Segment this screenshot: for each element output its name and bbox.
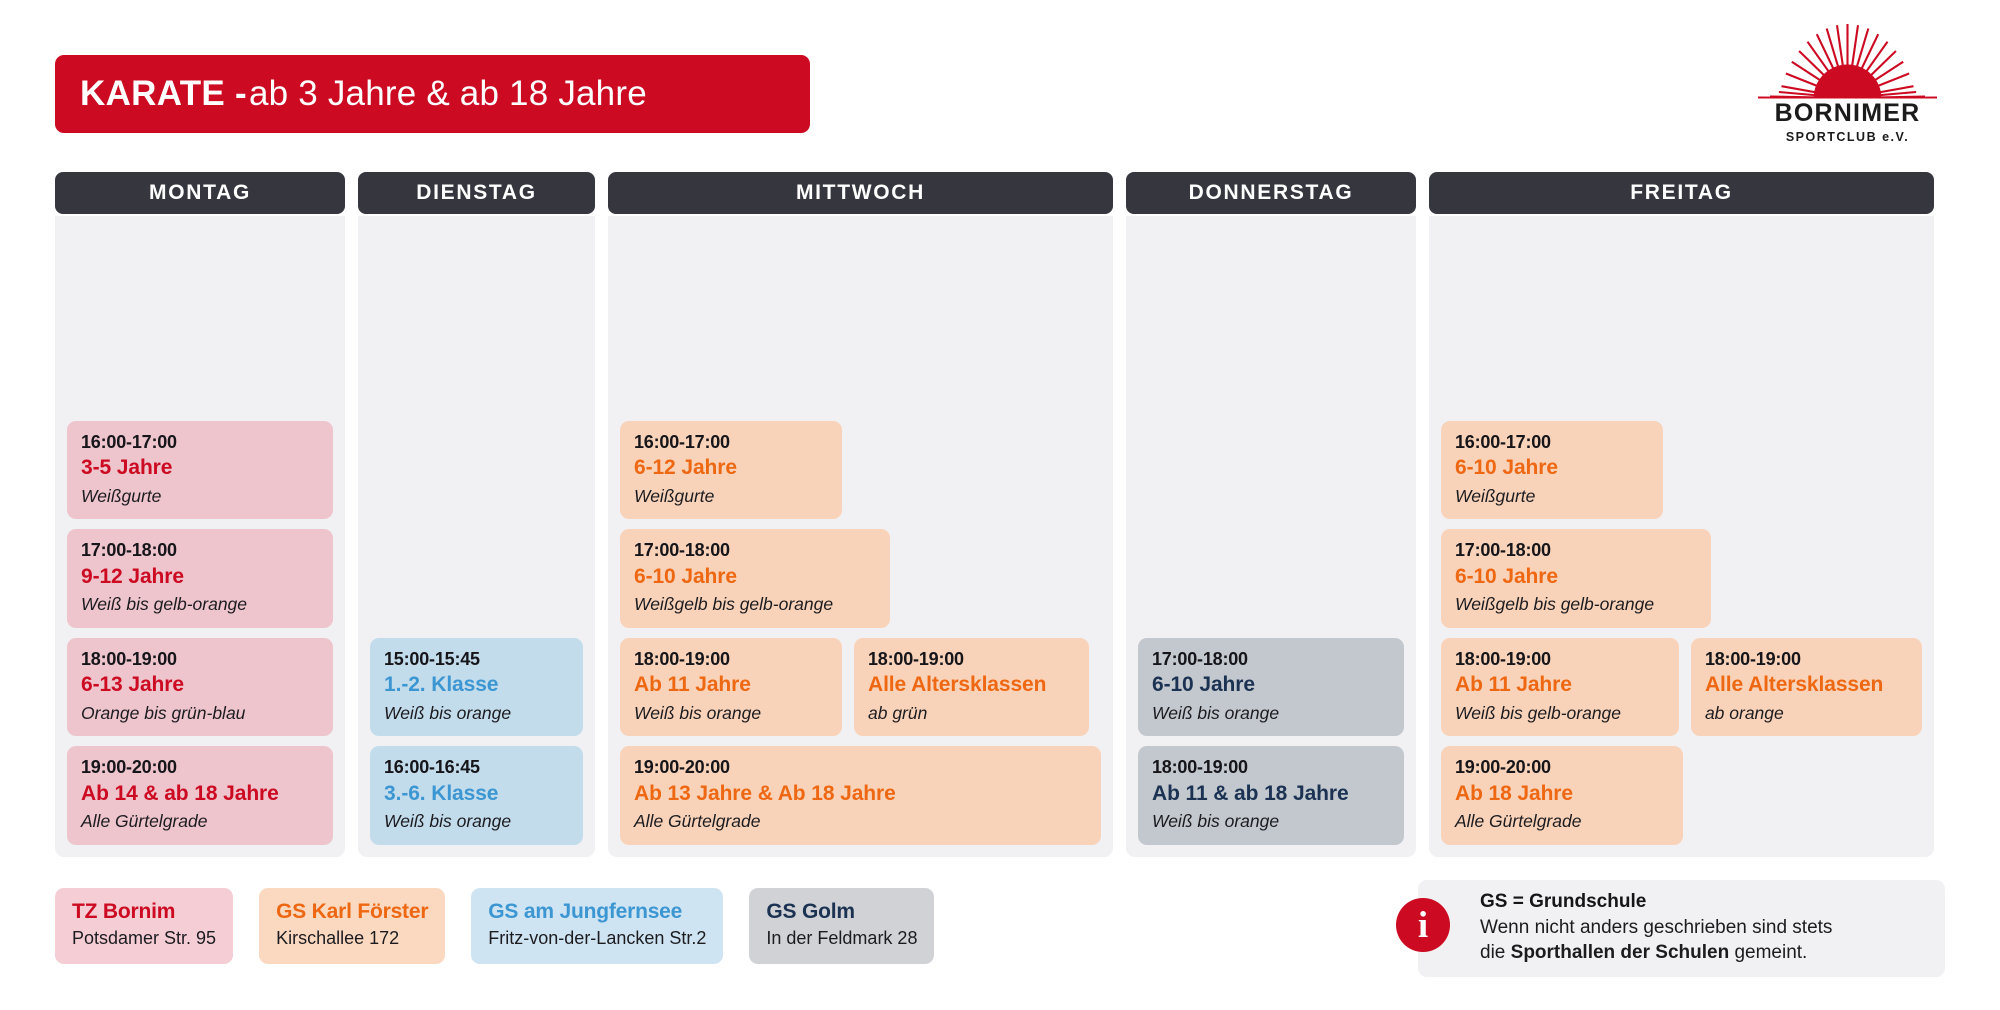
legend-venue-name: GS am Jungfernsee	[488, 899, 706, 925]
slot-row: 16:00-17:006-12 JahreWeißgurte	[620, 421, 1101, 520]
class-card[interactable]: 19:00-20:00Ab 18 JahreAlle Gürtelgrade	[1441, 746, 1683, 845]
slot-row: 16:00-16:453.-6. KlasseWeiß bis orange	[370, 746, 583, 845]
class-card[interactable]: 18:00-19:00Ab 11 & ab 18 JahreWeiß bis o…	[1138, 746, 1404, 845]
slot-row: 18:00-19:00Ab 11 JahreWeiß bis orange18:…	[620, 638, 1101, 737]
logo-club-subtitle: SPORTCLUB e.V.	[1740, 130, 1955, 144]
class-time: 18:00-19:00	[1152, 756, 1390, 779]
class-card[interactable]: 18:00-19:00Ab 11 JahreWeiß bis orange	[620, 638, 842, 737]
class-age-group: 3-5 Jahre	[81, 454, 319, 481]
info-box-title: GS = Grundschule	[1480, 890, 1931, 915]
info-box-line-1: Wenn nicht anders geschrieben sind stets	[1480, 915, 1931, 941]
slot-row: 18:00-19:00Ab 11 JahreWeiß bis gelb-oran…	[1441, 638, 1922, 737]
class-card[interactable]: 19:00-20:00Ab 13 Jahre & Ab 18 JahreAlle…	[620, 746, 1101, 845]
class-belt-level: Weißgurte	[81, 485, 319, 508]
class-time: 17:00-18:00	[1455, 539, 1697, 562]
slot-row: 16:00-17:003-5 JahreWeißgurte	[67, 421, 333, 520]
class-age-group: 6-10 Jahre	[634, 563, 876, 590]
slot-row: 18:00-19:006-13 JahreOrange bis grün-bla…	[67, 638, 333, 737]
sunrise-icon	[1740, 22, 1955, 100]
legend-item[interactable]: GS am JungfernseeFritz-von-der-Lancken S…	[471, 888, 723, 964]
class-age-group: 6-12 Jahre	[634, 454, 828, 481]
slot-row: 17:00-18:006-10 JahreWeißgelb bis gelb-o…	[1441, 529, 1922, 628]
class-belt-level: ab orange	[1705, 702, 1908, 725]
slot-row: 19:00-20:00Ab 14 & ab 18 JahreAlle Gürte…	[67, 746, 333, 845]
legend-item[interactable]: GS Karl FörsterKirschallee 172	[259, 888, 445, 964]
class-age-group: Ab 14 & ab 18 Jahre	[81, 780, 319, 807]
class-age-group: 9-12 Jahre	[81, 563, 319, 590]
class-card[interactable]: 17:00-18:006-10 JahreWeißgelb bis gelb-o…	[620, 529, 890, 628]
info-line2-pre: die	[1480, 942, 1511, 963]
class-time: 16:00-17:00	[1455, 431, 1649, 454]
class-time: 16:00-17:00	[634, 431, 828, 454]
slot-row: 19:00-20:00Ab 18 JahreAlle Gürtelgrade	[1441, 746, 1922, 845]
class-belt-level: Weiß bis orange	[1152, 702, 1390, 725]
class-belt-level: Weißgelb bis gelb-orange	[634, 593, 876, 616]
info-icon: i	[1396, 898, 1450, 952]
class-belt-level: Weiß bis orange	[384, 702, 569, 725]
class-age-group: Ab 11 & ab 18 Jahre	[1152, 780, 1390, 807]
class-age-group: 6-10 Jahre	[1455, 454, 1649, 481]
slot-row: 17:00-18:009-12 JahreWeiß bis gelb-orang…	[67, 529, 333, 628]
day-header-freitag: FREITAG	[1429, 172, 1934, 214]
class-age-group: 6-10 Jahre	[1152, 671, 1390, 698]
class-card[interactable]: 18:00-19:00Ab 11 JahreWeiß bis gelb-oran…	[1441, 638, 1679, 737]
legend-item[interactable]: GS GolmIn der Feldmark 28	[749, 888, 934, 964]
class-belt-level: Weiß bis gelb-orange	[1455, 702, 1665, 725]
slot-row: 15:00-15:451.-2. KlasseWeiß bis orange	[370, 638, 583, 737]
class-card[interactable]: 19:00-20:00Ab 14 & ab 18 JahreAlle Gürte…	[67, 746, 333, 845]
class-time: 18:00-19:00	[868, 648, 1075, 671]
page-title-strong: KARATE -	[80, 74, 247, 114]
class-belt-level: Alle Gürtelgrade	[81, 810, 319, 833]
class-belt-level: Weißgurte	[1455, 485, 1649, 508]
class-card[interactable]: 15:00-15:451.-2. KlasseWeiß bis orange	[370, 638, 583, 737]
class-card[interactable]: 16:00-17:003-5 JahreWeißgurte	[67, 421, 333, 520]
legend-venue-address: Fritz-von-der-Lancken Str.2	[488, 927, 706, 950]
class-time: 18:00-19:00	[81, 648, 319, 671]
class-belt-level: Weiß bis orange	[634, 702, 828, 725]
class-time: 18:00-19:00	[1455, 648, 1665, 671]
club-logo: BORNIMER SPORTCLUB e.V.	[1740, 22, 1955, 137]
class-age-group: Ab 18 Jahre	[1455, 780, 1669, 807]
class-belt-level: Weißgurte	[634, 485, 828, 508]
class-belt-level: Alle Gürtelgrade	[634, 810, 1087, 833]
day-column-freitag: FREITAG16:00-17:006-10 JahreWeißgurte17:…	[1429, 172, 1934, 857]
info-box: i GS = Grundschule Wenn nicht anders ges…	[1418, 880, 1945, 977]
class-age-group: Alle Altersklassen	[868, 671, 1075, 698]
logo-club-name: BORNIMER	[1740, 101, 1955, 126]
page-title-rest: ab 3 Jahre & ab 18 Jahre	[249, 74, 647, 114]
class-card[interactable]: 16:00-16:453.-6. KlasseWeiß bis orange	[370, 746, 583, 845]
class-time: 17:00-18:00	[634, 539, 876, 562]
day-body-freitag: 16:00-17:006-10 JahreWeißgurte17:00-18:0…	[1429, 216, 1934, 857]
slot-row: 18:00-19:00Ab 11 & ab 18 JahreWeiß bis o…	[1138, 746, 1404, 845]
day-column-mittwoch: MITTWOCH16:00-17:006-12 JahreWeißgurte17…	[608, 172, 1113, 857]
class-card[interactable]: 17:00-18:009-12 JahreWeiß bis gelb-orang…	[67, 529, 333, 628]
class-card[interactable]: 17:00-18:006-10 JahreWeiß bis orange	[1138, 638, 1404, 737]
legend-venue-address: Kirschallee 172	[276, 927, 428, 950]
page-title-banner: KARATE - ab 3 Jahre & ab 18 Jahre	[55, 55, 810, 133]
legend-venue-address: In der Feldmark 28	[766, 927, 917, 950]
legend-venue-name: GS Golm	[766, 899, 917, 925]
class-time: 19:00-20:00	[634, 756, 1087, 779]
slot-row: 17:00-18:006-10 JahreWeißgelb bis gelb-o…	[620, 529, 1101, 628]
class-belt-level: ab grün	[868, 702, 1075, 725]
class-time: 17:00-18:00	[1152, 648, 1390, 671]
class-age-group: Ab 11 Jahre	[634, 671, 828, 698]
class-time: 16:00-16:45	[384, 756, 569, 779]
class-card[interactable]: 18:00-19:006-13 JahreOrange bis grün-bla…	[67, 638, 333, 737]
class-belt-level: Alle Gürtelgrade	[1455, 810, 1669, 833]
class-age-group: 6-10 Jahre	[1455, 563, 1697, 590]
day-column-donnerstag: DONNERSTAG17:00-18:006-10 JahreWeiß bis …	[1126, 172, 1416, 857]
class-belt-level: Weiß bis orange	[1152, 810, 1390, 833]
legend-venue-address: Potsdamer Str. 95	[72, 927, 216, 950]
venue-legend: TZ BornimPotsdamer Str. 95GS Karl Förste…	[55, 888, 934, 964]
info-line2-bold: Sporthallen der Schulen	[1511, 942, 1730, 963]
day-body-donnerstag: 17:00-18:006-10 JahreWeiß bis orange18:0…	[1126, 216, 1416, 857]
class-card[interactable]: 18:00-19:00Alle Altersklassenab orange	[1691, 638, 1922, 737]
class-belt-level: Weiß bis orange	[384, 810, 569, 833]
week-schedule-grid: MONTAG16:00-17:003-5 JahreWeißgurte17:00…	[55, 172, 1945, 857]
class-card[interactable]: 16:00-17:006-10 JahreWeißgurte	[1441, 421, 1663, 520]
legend-venue-name: TZ Bornim	[72, 899, 216, 925]
day-header-montag: MONTAG	[55, 172, 345, 214]
day-body-dienstag: 15:00-15:451.-2. KlasseWeiß bis orange16…	[358, 216, 595, 857]
day-body-montag: 16:00-17:003-5 JahreWeißgurte17:00-18:00…	[55, 216, 345, 857]
class-belt-level: Weiß bis gelb-orange	[81, 593, 319, 616]
class-time: 16:00-17:00	[81, 431, 319, 454]
class-belt-level: Weißgelb bis gelb-orange	[1455, 593, 1697, 616]
class-card[interactable]: 16:00-17:006-12 JahreWeißgurte	[620, 421, 842, 520]
class-time: 15:00-15:45	[384, 648, 569, 671]
class-time: 19:00-20:00	[81, 756, 319, 779]
legend-venue-name: GS Karl Förster	[276, 899, 428, 925]
info-box-line-2: die Sporthallen der Schulen gemeint.	[1480, 940, 1931, 966]
class-age-group: Ab 11 Jahre	[1455, 671, 1665, 698]
class-time: 17:00-18:00	[81, 539, 319, 562]
legend-item[interactable]: TZ BornimPotsdamer Str. 95	[55, 888, 233, 964]
class-time: 18:00-19:00	[634, 648, 828, 671]
class-age-group: Ab 13 Jahre & Ab 18 Jahre	[634, 780, 1087, 807]
class-belt-level: Orange bis grün-blau	[81, 702, 319, 725]
class-age-group: 3.-6. Klasse	[384, 780, 569, 807]
day-column-dienstag: DIENSTAG15:00-15:451.-2. KlasseWeiß bis …	[358, 172, 595, 857]
class-time: 18:00-19:00	[1705, 648, 1908, 671]
day-column-montag: MONTAG16:00-17:003-5 JahreWeißgurte17:00…	[55, 172, 345, 857]
class-time: 19:00-20:00	[1455, 756, 1669, 779]
day-header-mittwoch: MITTWOCH	[608, 172, 1113, 214]
slot-row: 16:00-17:006-10 JahreWeißgurte	[1441, 421, 1922, 520]
class-age-group: Alle Altersklassen	[1705, 671, 1908, 698]
slot-row: 19:00-20:00Ab 13 Jahre & Ab 18 JahreAlle…	[620, 746, 1101, 845]
slot-row: 17:00-18:006-10 JahreWeiß bis orange	[1138, 638, 1404, 737]
info-line2-post: gemeint.	[1729, 942, 1807, 963]
class-age-group: 6-13 Jahre	[81, 671, 319, 698]
day-header-donnerstag: DONNERSTAG	[1126, 172, 1416, 214]
day-header-dienstag: DIENSTAG	[358, 172, 595, 214]
class-card[interactable]: 18:00-19:00Alle Altersklassenab grün	[854, 638, 1089, 737]
karate-schedule-page: KARATE - ab 3 Jahre & ab 18 Jahre B	[0, 0, 2000, 1010]
day-body-mittwoch: 16:00-17:006-12 JahreWeißgurte17:00-18:0…	[608, 216, 1113, 857]
class-card[interactable]: 17:00-18:006-10 JahreWeißgelb bis gelb-o…	[1441, 529, 1711, 628]
class-age-group: 1.-2. Klasse	[384, 671, 569, 698]
